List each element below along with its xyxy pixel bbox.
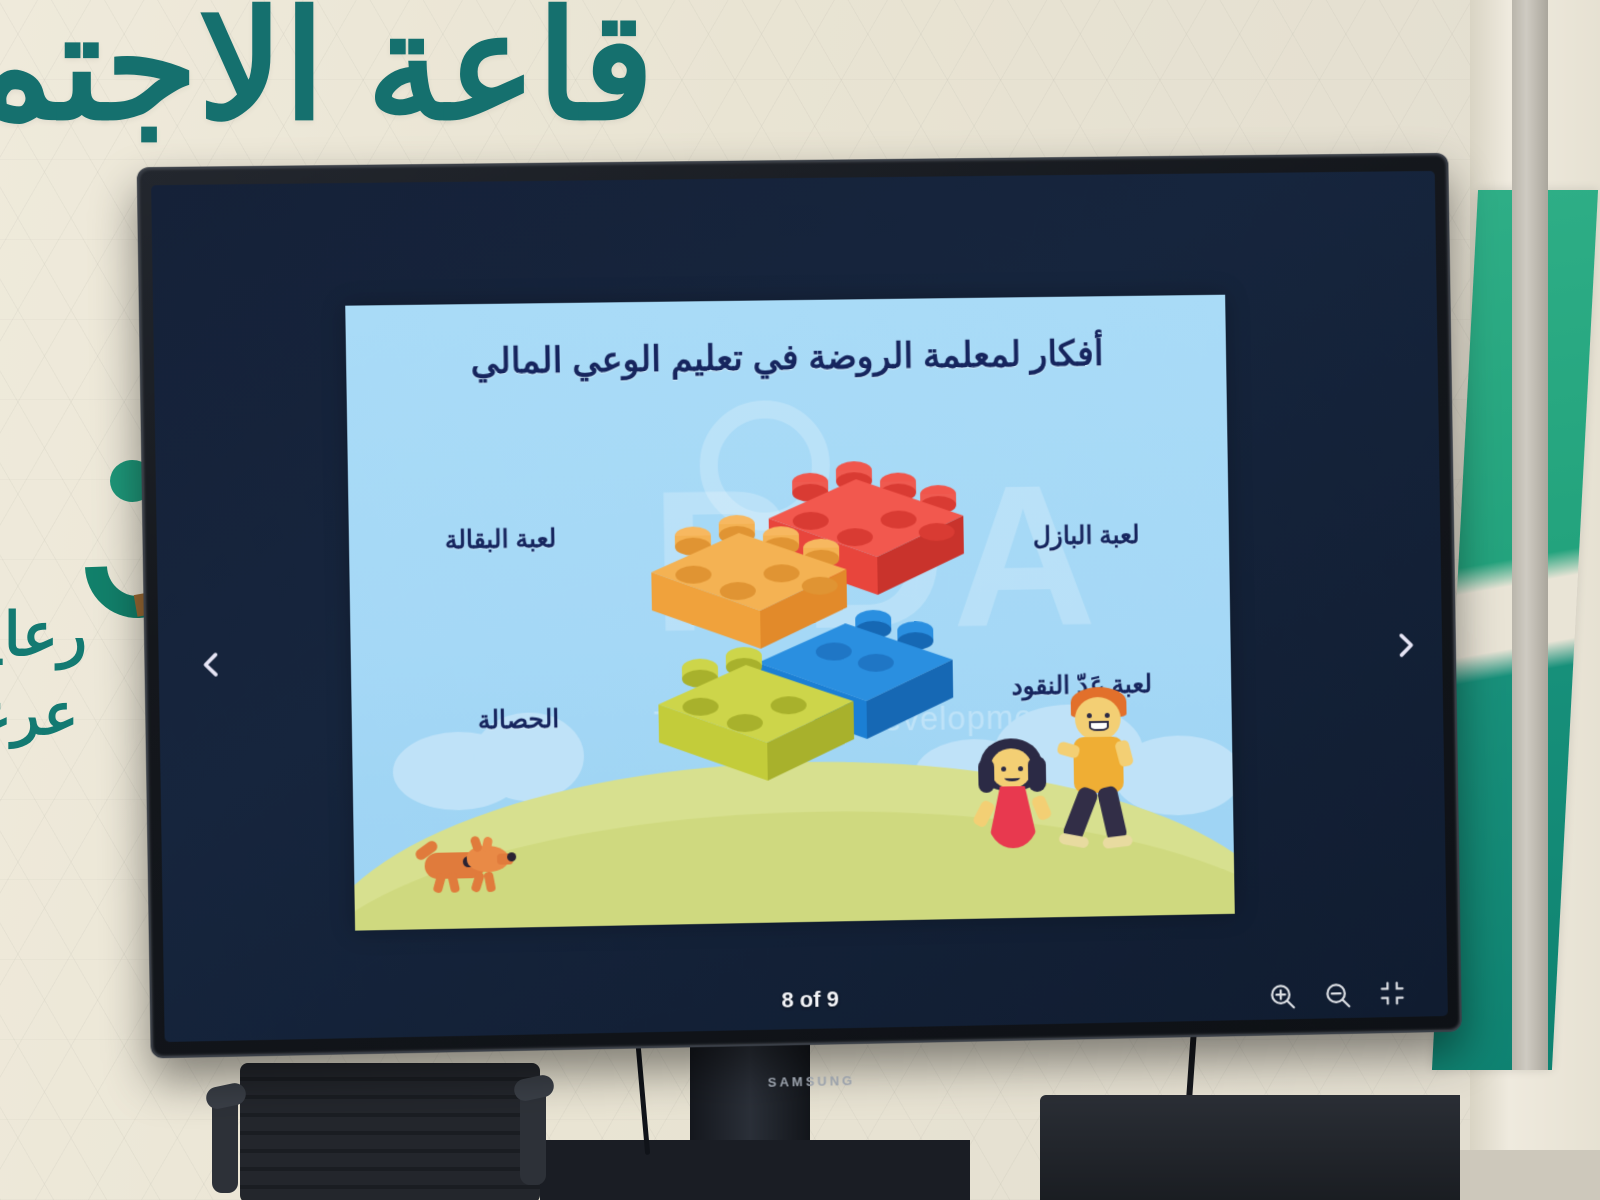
television-display: RDA Training and Development أفكار لمعلم… [137, 153, 1462, 1059]
chair-armrest-left [212, 1093, 238, 1193]
girl-hair-side-right [1028, 756, 1046, 792]
desk-surface [1040, 1095, 1460, 1200]
slide-title: أفكار لمعلمة الروضة في تعليم الوعي المال… [346, 333, 1226, 385]
chair-armrest-right [520, 1085, 546, 1185]
boy-shoe-left [1058, 832, 1089, 848]
children-illustration [973, 678, 1185, 871]
wall-logo-text-line1: رعاية [0, 600, 87, 670]
boy-shoe-right [1102, 835, 1133, 850]
label-grocery-game: لعبة البقالة [445, 524, 557, 556]
lego-brick-group [639, 448, 974, 793]
label-puzzle-game: لعبة البازل [1033, 520, 1140, 552]
boy-eye-left [1087, 713, 1092, 718]
presentation-viewer[interactable]: RDA Training and Development أفكار لمعلم… [151, 171, 1448, 1042]
slide-canvas[interactable]: RDA Training and Development أفكار لمعلم… [345, 295, 1235, 931]
viewer-toolbar[interactable] [1268, 979, 1409, 1012]
girl-hair-side-left [978, 759, 994, 793]
zoom-out-icon[interactable] [1323, 980, 1353, 1010]
fit-screen-icon[interactable] [1378, 979, 1408, 1009]
boy-eye-right [1105, 713, 1110, 718]
wall-logo-text-line2: عرعر [0, 680, 78, 748]
label-piggy-bank: الحصالة [478, 704, 560, 735]
boy-head [1075, 697, 1121, 742]
dog-leg [484, 871, 497, 892]
wall-room-title: قاعة الاجتم [0, 0, 654, 154]
wall-column [1512, 0, 1548, 1070]
office-chair [190, 1045, 610, 1200]
running-dog-illustration [414, 835, 512, 893]
boy-smile [1089, 721, 1109, 731]
chevron-left-icon[interactable] [194, 647, 231, 684]
boy-leg-right [1097, 785, 1128, 842]
girl-arm-right [1031, 794, 1053, 821]
lego-brick-green [647, 641, 865, 810]
girl-eye-left [1001, 766, 1006, 771]
girl-eye-right [1018, 766, 1023, 771]
girl-dress [986, 786, 1039, 849]
zoom-in-icon[interactable] [1268, 981, 1298, 1011]
page-indicator: 8 of 9 [164, 974, 1448, 1026]
girl-arm-left [972, 799, 996, 828]
chevron-right-icon[interactable] [1389, 628, 1425, 664]
